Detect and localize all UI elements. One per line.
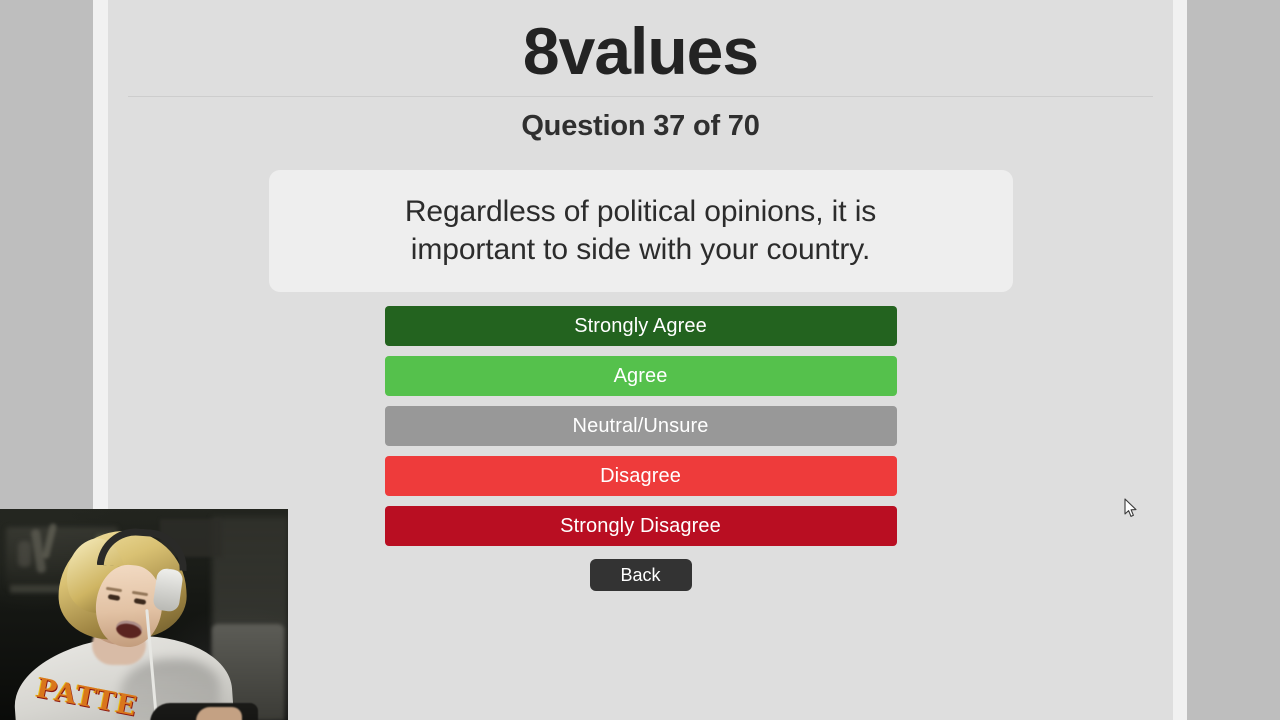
answer-strongly-disagree[interactable]: Strongly Disagree bbox=[385, 506, 897, 546]
quiz-content: 8values Question 37 of 70 Regardless of … bbox=[108, 0, 1173, 591]
webcam-shelf-item bbox=[18, 541, 31, 567]
answer-strongly-agree[interactable]: Strongly Agree bbox=[385, 306, 897, 346]
question-text: Regardless of political opinions, it is … bbox=[341, 193, 941, 269]
streamer-hand bbox=[196, 707, 242, 720]
answer-options: Strongly Agree Agree Neutral/Unsure Disa… bbox=[385, 306, 897, 546]
answer-agree[interactable]: Agree bbox=[385, 356, 897, 396]
question-counter: Question 37 of 70 bbox=[108, 97, 1173, 143]
browser-right-band bbox=[1187, 0, 1280, 720]
back-button[interactable]: Back bbox=[590, 559, 692, 591]
answer-neutral-unsure[interactable]: Neutral/Unsure bbox=[385, 406, 897, 446]
answer-disagree[interactable]: Disagree bbox=[385, 456, 897, 496]
page-title: 8values bbox=[108, 0, 1173, 87]
question-card: Regardless of political opinions, it is … bbox=[269, 170, 1013, 292]
webcam-overlay: PATTE bbox=[0, 509, 288, 720]
page-right-gutter bbox=[1173, 0, 1187, 720]
browser-window: 8values Question 37 of 70 Regardless of … bbox=[0, 0, 1280, 720]
